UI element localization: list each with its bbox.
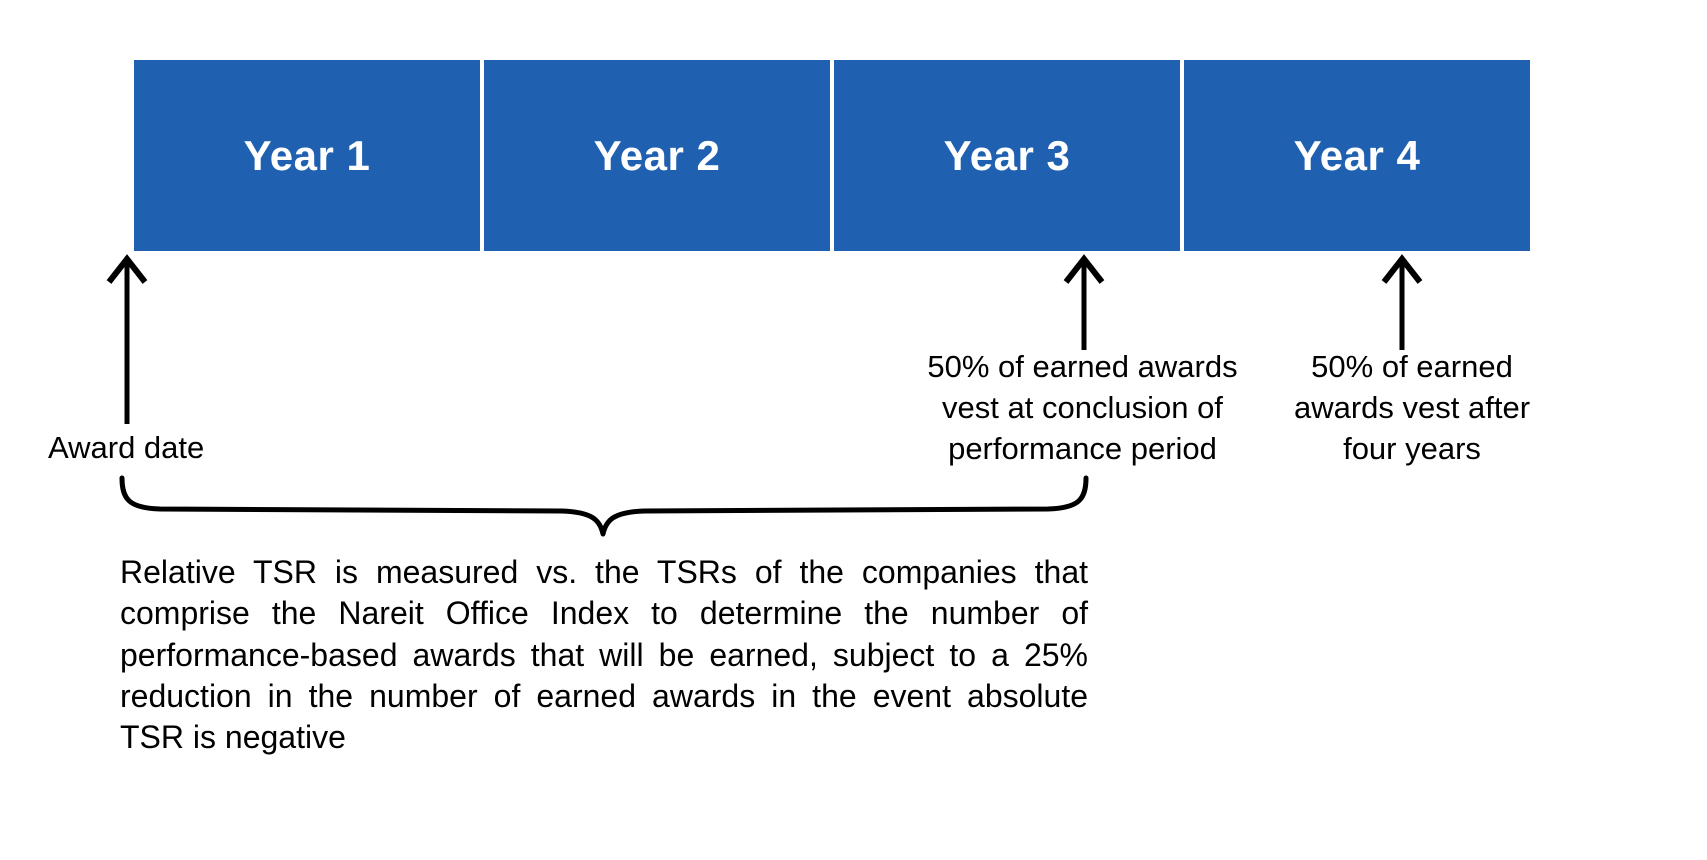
timeline-segment-label: Year 1 bbox=[244, 135, 371, 177]
timeline-segment-label: Year 4 bbox=[1294, 135, 1421, 177]
timeline-bar: Year 1 Year 2 Year 3 Year 4 bbox=[134, 60, 1530, 251]
timeline-segment-year-2[interactable]: Year 2 bbox=[484, 60, 830, 251]
four-year-vest-label: 50% of earned awards vest after four yea… bbox=[1281, 347, 1543, 470]
timeline-segment-year-1[interactable]: Year 1 bbox=[134, 60, 480, 251]
award-date-arrow-icon bbox=[100, 252, 156, 424]
performance-period-vest-arrow-icon bbox=[1057, 252, 1113, 350]
performance-period-vest-label: 50% of earned awards vest at conclusion … bbox=[905, 347, 1260, 470]
performance-description-paragraph: Relative TSR is measured vs. the TSRs of… bbox=[120, 552, 1088, 758]
performance-description-text: Relative TSR is measured vs. the TSRs of… bbox=[120, 552, 1088, 758]
timeline-segment-year-4[interactable]: Year 4 bbox=[1184, 60, 1530, 251]
four-year-vest-arrow-icon bbox=[1375, 252, 1431, 350]
performance-period-brace-icon bbox=[100, 470, 1110, 540]
timeline-segment-label: Year 3 bbox=[944, 135, 1071, 177]
timeline-segment-year-3[interactable]: Year 3 bbox=[834, 60, 1180, 251]
award-date-label: Award date bbox=[48, 428, 348, 469]
timeline-segment-label: Year 2 bbox=[594, 135, 721, 177]
